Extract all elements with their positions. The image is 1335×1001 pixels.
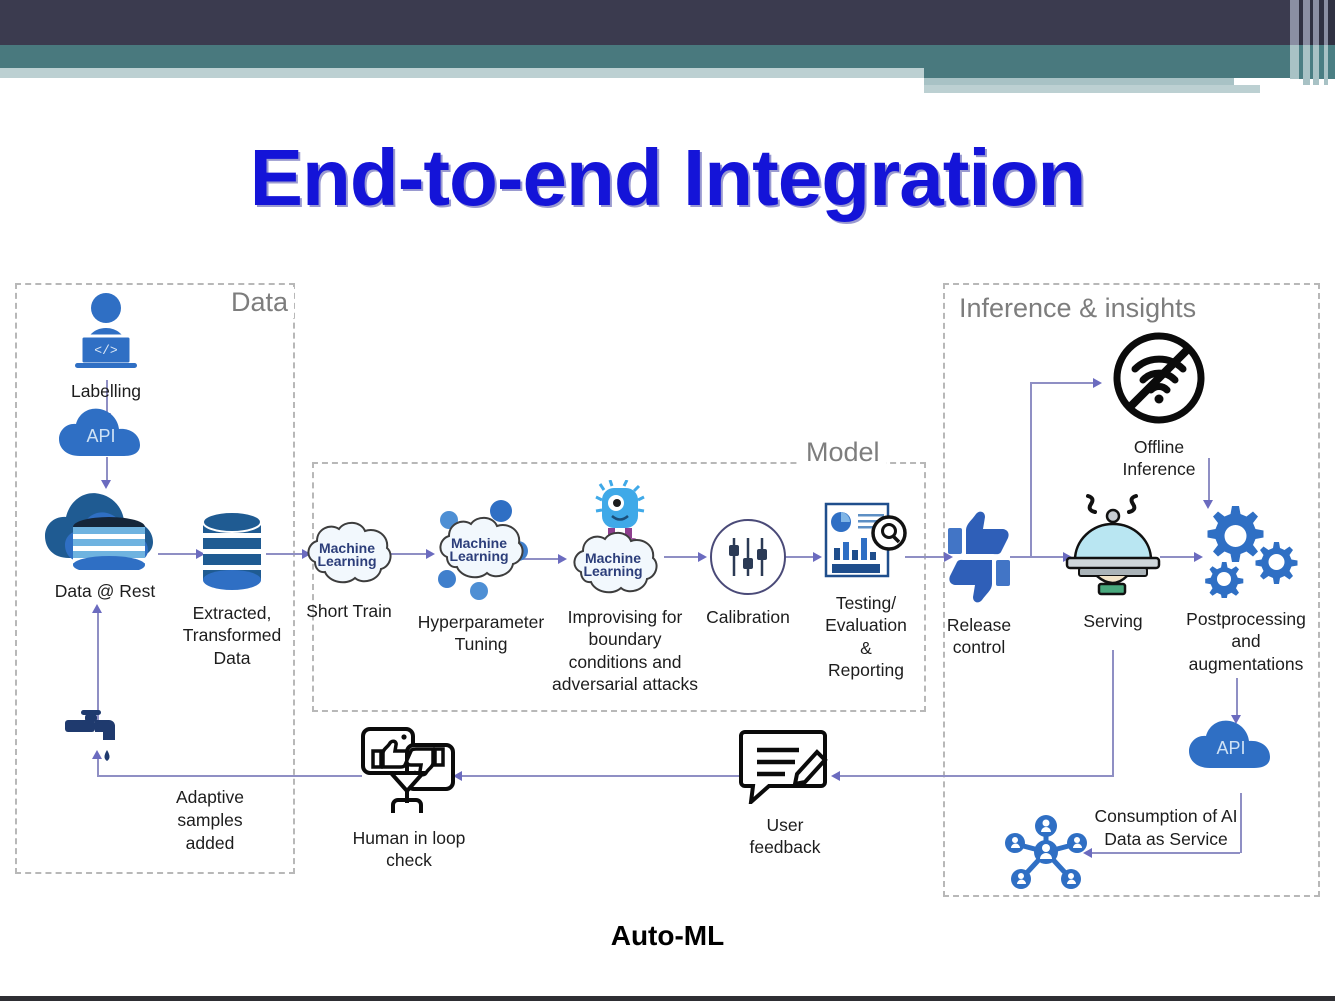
connector-postprocessing-to-api: [1236, 678, 1238, 718]
connector-feedback-to-human: [460, 775, 740, 777]
header-band-dark: [0, 0, 1290, 45]
node-api-out[interactable]: API: [1188, 718, 1284, 784]
node-offline-inference[interactable]: Offline Inference: [1096, 330, 1222, 481]
connector-faucet-to-rest: [97, 610, 99, 720]
faucet-drip-icon: [63, 710, 133, 773]
node-adaptive-samples-icon[interactable]: [60, 710, 136, 773]
database-stack-icon: [197, 510, 267, 597]
connector-api-to-consumption-h: [1090, 852, 1240, 854]
slide-header-decoration: [0, 0, 1335, 95]
svg-text:Learning: Learning: [449, 548, 508, 564]
node-label-testing-evaluation: Testing/ Evaluation & Reporting: [825, 592, 907, 682]
node-label-extracted-transformed: Extracted, Transformed Data: [183, 602, 282, 669]
node-label-serving: Serving: [1083, 610, 1142, 632]
machine-learning-tuning-icon: Machine Learning: [423, 495, 539, 606]
header-stripe-16: [1328, 45, 1335, 79]
node-label-user-feedback: User feedback: [749, 814, 820, 859]
header-band-teal: [0, 45, 1290, 68]
group-label-data: Data: [225, 287, 294, 318]
node-label-improvising: Improvising for boundary conditions and …: [552, 606, 698, 696]
node-data-at-rest[interactable]: Data @ Rest: [35, 478, 175, 602]
header-band-white-1: [1234, 78, 1260, 85]
node-label-hyperparameter-tuning: Hyperparameter Tuning: [418, 611, 544, 656]
node-short-train[interactable]: Machine Learning Short Train: [296, 518, 402, 622]
svg-text:Learning: Learning: [317, 553, 376, 569]
bottom-rule: [0, 996, 1335, 1001]
report-magnifier-icon: [822, 500, 910, 587]
node-human-in-loop[interactable]: Human in loop check: [348, 725, 470, 872]
svg-text:</>: </>: [94, 343, 118, 358]
connector-serving-to-feedback-h: [838, 775, 1114, 777]
page-title: End-to-end Integration: [0, 132, 1335, 224]
node-calibration[interactable]: Calibration: [700, 518, 796, 628]
node-user-feedback[interactable]: User feedback: [730, 728, 840, 859]
sliders-circle-icon: [709, 518, 787, 601]
gears-icon: [1194, 500, 1298, 603]
node-improvising[interactable]: Machine Learning Improvising for boundar…: [552, 480, 698, 696]
header-band-pale-3: [924, 85, 1260, 93]
human-in-loop-icon: [359, 725, 459, 822]
node-api-in[interactable]: API: [58, 406, 154, 472]
node-serving[interactable]: Serving: [1058, 490, 1168, 632]
cloud-database-icon: [43, 478, 168, 575]
group-label-inference: Inference & insights: [953, 293, 1202, 324]
svg-text:Learning: Learning: [583, 563, 642, 579]
node-hyperparameter-tuning[interactable]: Machine Learning Hyperparameter Tuning: [418, 495, 544, 656]
node-label-offline-inference: Offline Inference: [1096, 436, 1222, 481]
serving-tray-icon: [1059, 490, 1167, 605]
node-release-control[interactable]: Release control: [935, 510, 1023, 659]
svg-text:API: API: [86, 426, 115, 446]
header-stripe-3: [1303, 0, 1310, 45]
machine-learning-cloud-icon: Machine Learning: [301, 518, 397, 595]
api-cloud-icon: API: [1186, 718, 1286, 779]
node-label-postprocessing: Postprocessing and augmentations: [1186, 608, 1306, 675]
thumbs-up-down-icon: [946, 510, 1012, 609]
node-label-labelling: Labelling: [71, 380, 141, 402]
person-laptop-code-icon: </>: [63, 292, 149, 375]
node-label-calibration: Calibration: [706, 606, 790, 628]
node-postprocessing[interactable]: Postprocessing and augmentations: [1178, 500, 1314, 675]
node-consumption[interactable]: [1000, 812, 1092, 895]
node-testing-evaluation[interactable]: Testing/ Evaluation & Reporting: [812, 500, 920, 682]
wifi-off-icon: [1111, 330, 1207, 431]
header-stripe-11: [1303, 45, 1310, 85]
node-label-short-train: Short Train: [306, 600, 392, 622]
api-cloud-icon: API: [56, 406, 156, 467]
user-network-icon: [1002, 812, 1090, 895]
feedback-note-pencil-icon: [739, 728, 831, 809]
arrowhead-faucet-to-rest: [92, 604, 102, 613]
header-stripe-1: [1290, 0, 1299, 45]
connector-branch-to-offline: [1030, 382, 1095, 384]
machine-learning-monster-icon: Machine Learning: [565, 480, 685, 601]
node-label-consumption: Consumption of AI Data as Service: [1086, 805, 1246, 851]
node-extracted-transformed[interactable]: Extracted, Transformed Data: [172, 510, 292, 669]
connector-serving-to-feedback-v: [1112, 650, 1114, 776]
node-label-adaptive-samples: Adaptive samples added: [150, 786, 270, 854]
connector-branch-up-offline: [1030, 382, 1032, 557]
svg-text:API: API: [1216, 738, 1245, 758]
group-label-model: Model: [800, 437, 886, 468]
node-label-data-at-rest: Data @ Rest: [55, 580, 155, 602]
node-label-human-in-loop: Human in loop check: [353, 827, 466, 872]
header-band-teal-2: [924, 68, 1290, 78]
footer-caption: Auto-ML: [0, 920, 1335, 952]
connector-human-to-adaptive: [97, 775, 362, 777]
header-band-pale-2: [924, 78, 1234, 85]
header-band-pale-1: [0, 68, 924, 78]
node-label-release-control: Release control: [947, 614, 1011, 659]
header-stripe-8: [1328, 0, 1335, 45]
header-stripe-9: [1290, 45, 1299, 79]
node-labelling[interactable]: </> Labelling: [58, 292, 154, 402]
